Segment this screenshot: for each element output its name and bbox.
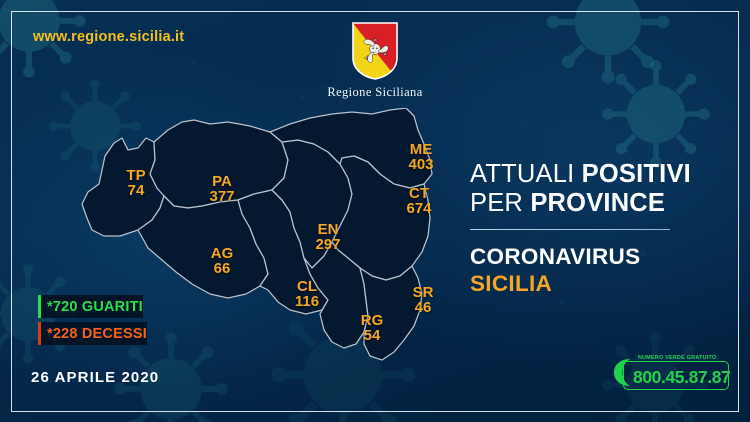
subtitle-coronavirus: CORONAVIRUS bbox=[470, 243, 730, 270]
headline-divider bbox=[470, 229, 670, 230]
province-label-me[interactable]: ME 403 bbox=[397, 142, 445, 173]
stat-accent-bar-deaths bbox=[38, 322, 41, 345]
province-value: 297 bbox=[304, 237, 352, 252]
virus-decoration-icon bbox=[544, 0, 672, 86]
headline-line-2: PER PROVINCE bbox=[470, 189, 728, 218]
province-value: 74 bbox=[115, 183, 157, 198]
logo-caption: Regione Siciliana bbox=[327, 85, 423, 100]
phone-handset-icon bbox=[611, 357, 635, 388]
headline-word-attuali: ATTUALI bbox=[470, 160, 574, 188]
province-value: 54 bbox=[348, 328, 396, 343]
province-value: 674 bbox=[395, 201, 443, 216]
province-label-ct[interactable]: CT 674 bbox=[395, 186, 443, 217]
province-label-pa[interactable]: PA 377 bbox=[198, 174, 246, 205]
province-value: 66 bbox=[198, 261, 246, 276]
province-value: 116 bbox=[283, 294, 331, 309]
report-date: 26 APRILE 2020 bbox=[31, 369, 159, 386]
headline-word-province: PROVINCE bbox=[530, 189, 665, 217]
province-label-rg[interactable]: RG 54 bbox=[348, 313, 396, 344]
sicily-province-map[interactable]: TP 74 PA 377 AG 66 CL 116 EN 297 ME 403 … bbox=[42, 108, 490, 390]
toll-free-number-box[interactable]: NUMERO VERDE GRATUITO 800.45.87.87 bbox=[607, 356, 729, 390]
website-url[interactable]: www.regione.sicilia.it bbox=[33, 29, 184, 45]
province-label-ag[interactable]: AG 66 bbox=[198, 246, 246, 277]
trinacria-shield-icon bbox=[352, 22, 398, 80]
province-value: 46 bbox=[399, 300, 447, 315]
virus-decoration-icon bbox=[600, 58, 712, 170]
headline-word-positivi: POSITIVI bbox=[582, 160, 691, 188]
stat-deaths: *228 DECESSI bbox=[38, 322, 147, 345]
province-label-sr[interactable]: SR 46 bbox=[399, 285, 447, 316]
province-value: 403 bbox=[397, 157, 445, 172]
subtitle-sicilia: SICILIA bbox=[470, 270, 730, 297]
regione-siciliana-logo: Regione Siciliana bbox=[327, 22, 423, 100]
stat-recovered-label: *720 GUARITI bbox=[47, 299, 143, 315]
province-label-cl[interactable]: CL 116 bbox=[283, 279, 331, 310]
province-label-tp[interactable]: TP 74 bbox=[115, 168, 157, 199]
headline-block: ATTUALI POSITIVI PER PROVINCE bbox=[470, 160, 728, 218]
province-label-en[interactable]: EN 297 bbox=[304, 222, 352, 253]
phone-number[interactable]: 800.45.87.87 bbox=[633, 367, 730, 388]
headline-word-per: PER bbox=[470, 189, 523, 217]
headline-line-1: ATTUALI POSITIVI bbox=[470, 160, 728, 189]
stat-deaths-label: *228 DECESSI bbox=[47, 326, 147, 342]
province-value: 377 bbox=[198, 189, 246, 204]
subtitle-block: CORONAVIRUS SICILIA bbox=[470, 243, 730, 298]
stat-accent-bar-recovered bbox=[38, 295, 41, 318]
stat-recovered: *720 GUARITI bbox=[38, 295, 143, 318]
phone-caption: NUMERO VERDE GRATUITO bbox=[635, 355, 719, 361]
infographic-canvas: www.regione.sicilia.it bbox=[0, 0, 750, 422]
